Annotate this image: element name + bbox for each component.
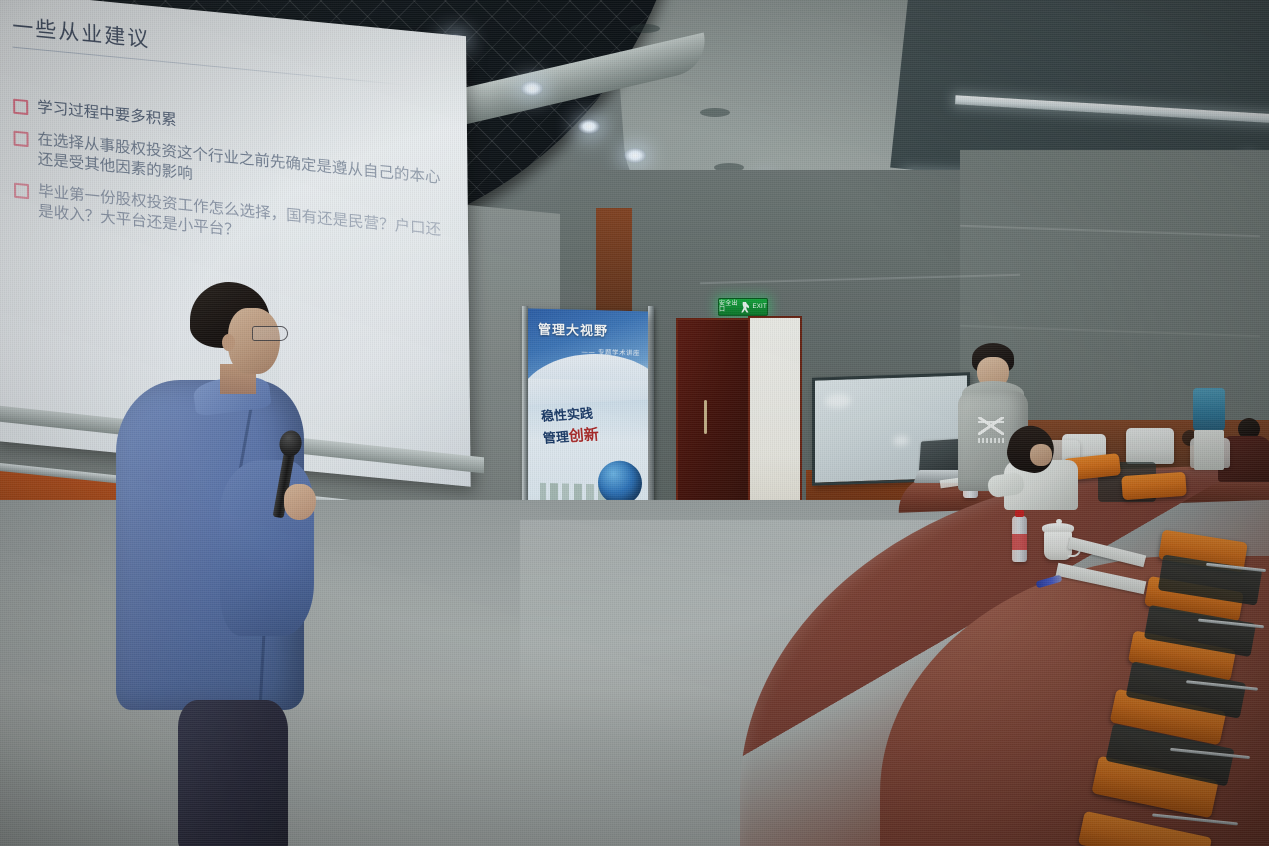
banner-calligraphy: 稳性实践 管理创新 bbox=[540, 403, 635, 449]
banner-title: 管理大视野 bbox=[538, 319, 608, 340]
exit-sign-label-cn: 安全出口 bbox=[719, 301, 738, 313]
presenter-hand bbox=[284, 484, 316, 520]
chair-white-2[interactable] bbox=[1126, 428, 1174, 464]
stander-hoodie-wordmark bbox=[978, 438, 1004, 443]
downlight-3 bbox=[578, 119, 600, 134]
seated-face bbox=[1030, 444, 1052, 466]
checkbox-square-icon bbox=[14, 183, 29, 199]
door-closed-leaf[interactable] bbox=[676, 318, 752, 530]
person-seated-attendee bbox=[1004, 426, 1084, 506]
teacup-lid bbox=[1042, 523, 1074, 532]
door-handle[interactable] bbox=[704, 400, 707, 434]
ceiling-vent-2 bbox=[700, 108, 730, 117]
exit-sign-label-en: EXIT bbox=[752, 304, 767, 310]
water-cooler-dispenser[interactable] bbox=[1194, 430, 1224, 470]
chair-orange-2[interactable] bbox=[1121, 472, 1187, 500]
whiteboard-glare-2 bbox=[893, 435, 909, 446]
checkbox-square-icon bbox=[13, 131, 28, 147]
adidas-logo-bar-icon bbox=[978, 421, 1004, 423]
person-presenter bbox=[112, 282, 322, 846]
whiteboard-glare-1 bbox=[825, 393, 851, 408]
teacup-knob bbox=[1056, 519, 1062, 524]
running-man-icon bbox=[741, 302, 749, 313]
banner-subtitle: —— 专题学术讲座 bbox=[581, 346, 640, 357]
presenter-ear bbox=[222, 334, 235, 351]
presenter-face bbox=[228, 308, 280, 374]
exit-sign: 安全出口 EXIT bbox=[718, 298, 768, 316]
banner-globe-graphic bbox=[598, 460, 642, 505]
banner-calligraphy-line2: 管理创新 bbox=[542, 422, 636, 450]
presenter-legs bbox=[178, 700, 288, 846]
water-cooler-jug bbox=[1193, 388, 1225, 432]
microphone-head bbox=[277, 429, 303, 458]
downlight-2 bbox=[521, 81, 543, 96]
checkbox-square-icon bbox=[13, 99, 28, 115]
bottle-label bbox=[1012, 534, 1027, 550]
slide-bullet-list: 学习过程中要多积累 在选择从事股权投资这个行业之前先确定是遵从自己的本心还是受其… bbox=[13, 96, 442, 260]
photo-scene: 一些从业建议 学习过程中要多积累 在选择从事股权投资这个行业之前先确定是遵从自己… bbox=[0, 0, 1269, 846]
slide-bullet-1-text: 学习过程中要多积累 bbox=[37, 98, 177, 131]
banner-calligraphy-line2-a: 管理 bbox=[542, 430, 569, 447]
eyeglasses-icon bbox=[252, 326, 288, 341]
water-bottle-red-cap[interactable] bbox=[1012, 516, 1027, 562]
banner-calligraphy-accent: 创新 bbox=[568, 425, 599, 445]
bottle-cap bbox=[1015, 510, 1024, 517]
ceiling-vent-1 bbox=[630, 24, 660, 33]
downlight-4 bbox=[624, 148, 646, 163]
adidas-logo-icon bbox=[978, 417, 1004, 435]
